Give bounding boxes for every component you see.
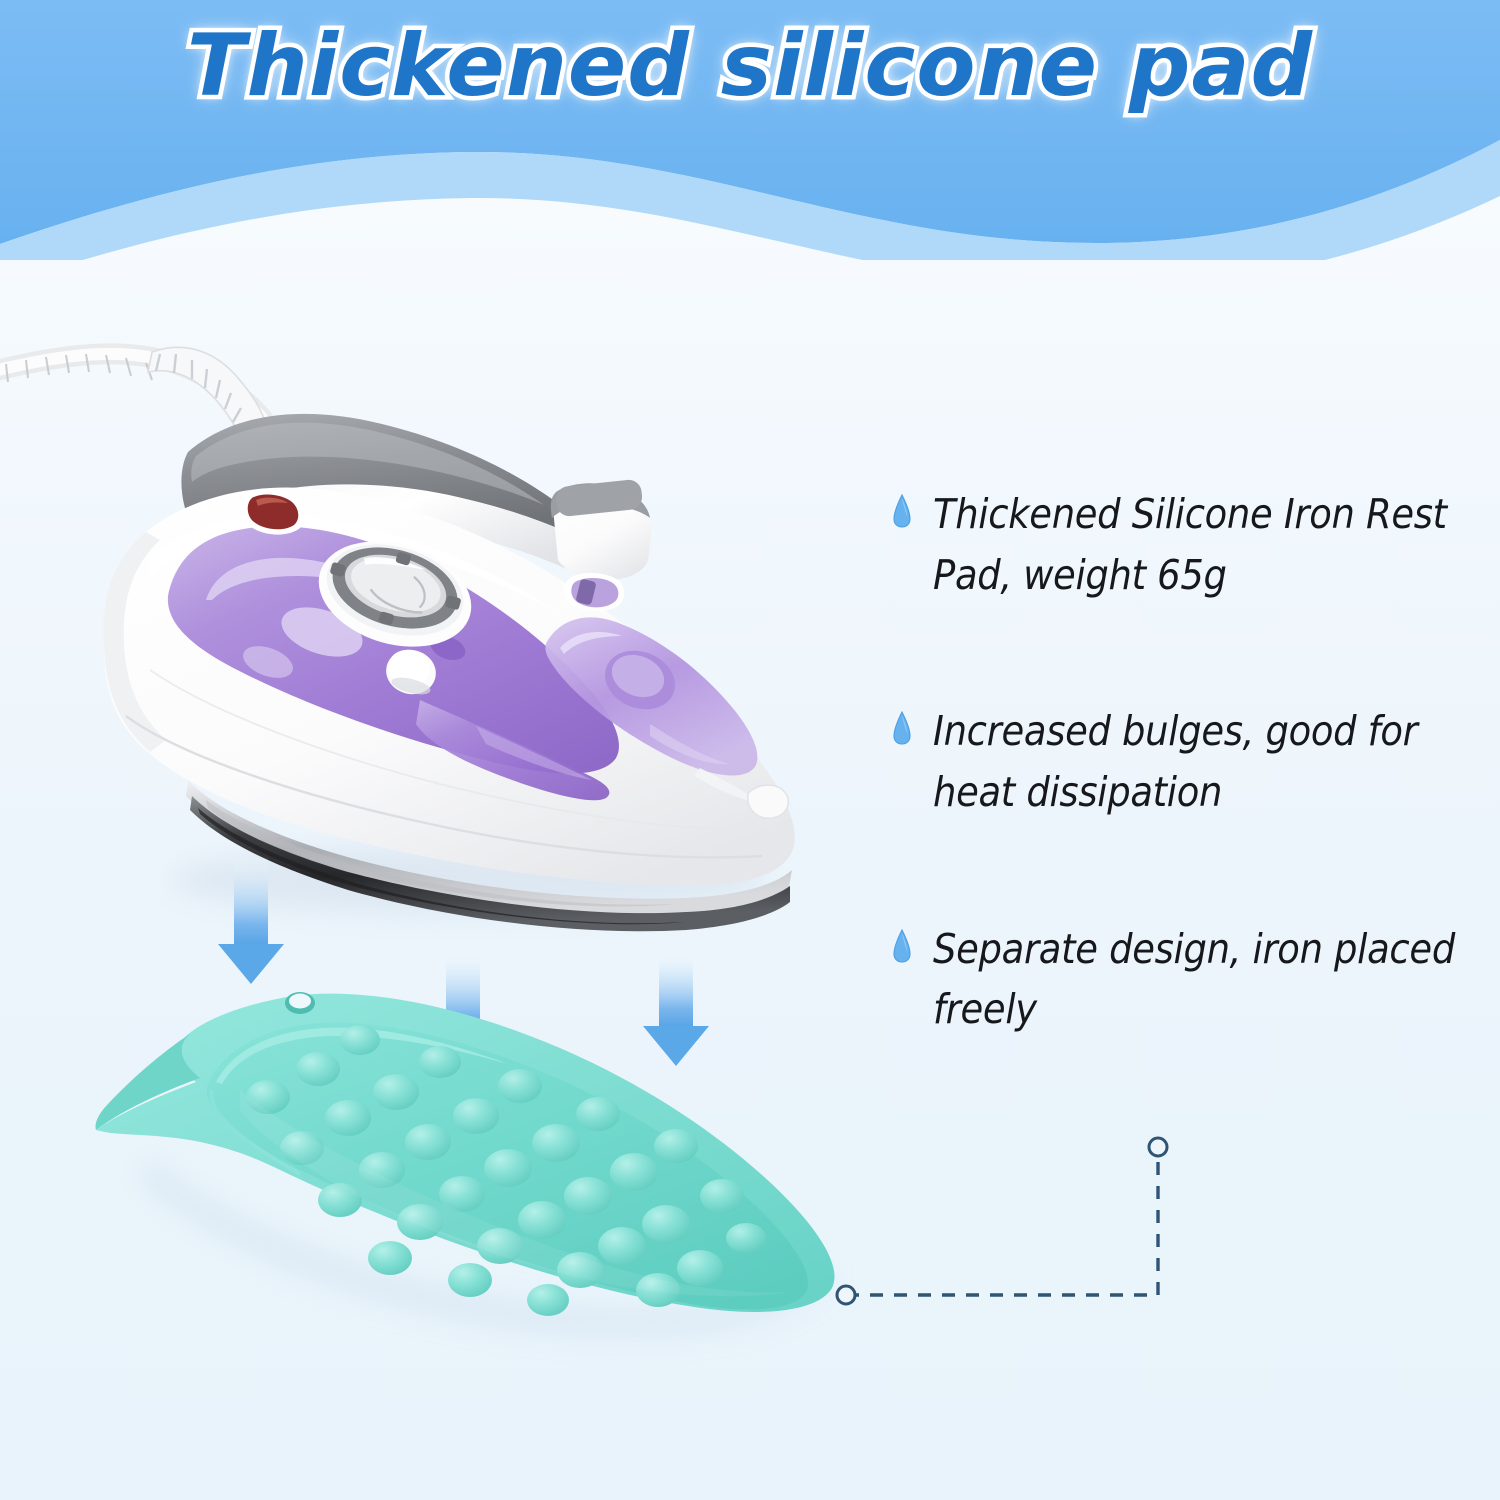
pad-hanging-hole: [285, 992, 315, 1014]
placement-arrow: [430, 948, 496, 1074]
feature-text: Separate design, iron placed freely: [933, 919, 1483, 1040]
cord-strain-relief: [148, 347, 266, 436]
temperature-dial[interactable]: [306, 524, 484, 663]
iron-shadow: [170, 846, 770, 914]
placement-arrows: [218, 856, 709, 1074]
pad-bumps: [246, 1025, 766, 1316]
feature-list: Thickened Silicone Iron Rest Pad, weight…: [893, 484, 1483, 1040]
heat-indicator-window: [241, 489, 305, 535]
feature-text: Thickened Silicone Iron Rest Pad, weight…: [933, 484, 1483, 605]
feature-item: Increased bulges, good for heat dissipat…: [893, 701, 1483, 822]
steam-button[interactable]: [555, 479, 644, 518]
pad-outer-lip: [96, 994, 835, 1312]
iron-soleplate: [186, 780, 792, 931]
iron-soleplate-bullet-icon: [893, 494, 911, 528]
water-tank: [168, 526, 619, 800]
feature-item: Thickened Silicone Iron Rest Pad, weight…: [893, 484, 1483, 605]
dimension-callout: [837, 1138, 1167, 1304]
pad-inner-platform: [207, 1023, 808, 1310]
iron-soleplate-bullet-icon: [893, 929, 911, 963]
spray-button[interactable]: [381, 645, 440, 700]
feature-item: Separate design, iron placed freely: [893, 919, 1483, 1040]
callout-endpoint: [1149, 1138, 1167, 1156]
iron-handle: [181, 414, 652, 580]
feature-text: Increased bulges, good for heat dissipat…: [933, 701, 1483, 822]
iron-soleplate-bullet-icon: [893, 711, 911, 745]
nose-water-window: [545, 617, 757, 775]
iron-body: [103, 488, 794, 886]
placement-arrow: [218, 856, 284, 984]
placement-arrow: [643, 948, 709, 1066]
power-cord: [0, 347, 266, 436]
iron-nose-assembly: [545, 573, 788, 818]
infographic-canvas: Thickened silicone pad: [0, 0, 1500, 1500]
silicone-iron-rest-pad: [96, 992, 835, 1334]
water-fill-cap[interactable]: [748, 785, 789, 818]
pad-shadow: [140, 1160, 834, 1334]
steam-selector-window[interactable]: [564, 573, 624, 611]
nose-nozzle: [596, 641, 684, 720]
pad-heel-wing: [96, 1034, 201, 1130]
page-title: Thickened silicone pad: [0, 16, 1500, 116]
callout-endpoint: [837, 1286, 855, 1304]
